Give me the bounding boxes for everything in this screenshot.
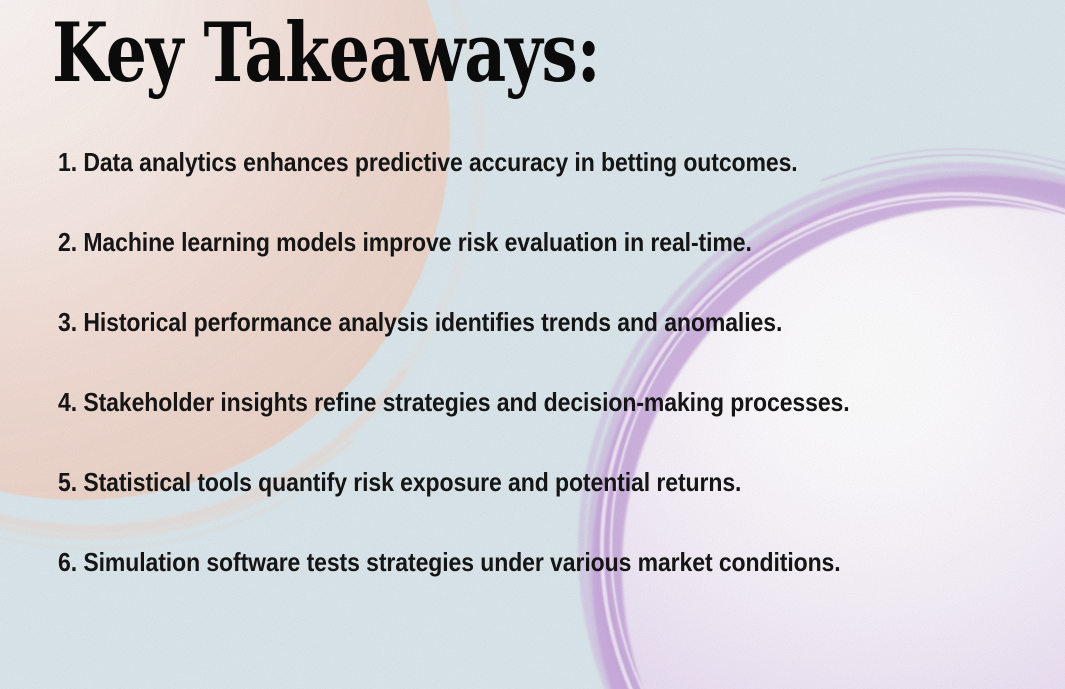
- takeaways-list: 1. Data analytics enhances predictive ac…: [58, 148, 1018, 628]
- takeaway-text-1: 1. Data analytics enhances predictive ac…: [58, 148, 798, 176]
- takeaway-text-2: 2. Machine learning models improve risk …: [58, 228, 752, 256]
- list-item: 6. Simulation software tests strategies …: [58, 548, 1018, 628]
- takeaway-text-3: 3. Historical performance analysis ident…: [58, 308, 782, 336]
- takeaway-text-5: 5. Statistical tools quantify risk expos…: [58, 468, 741, 496]
- list-item: 4. Stakeholder insights refine strategie…: [58, 388, 1018, 468]
- list-item: 3. Historical performance analysis ident…: [58, 308, 1018, 388]
- takeaway-text-6: 6. Simulation software tests strategies …: [58, 548, 841, 576]
- poster-canvas: Key Takeaways: 1. Data analytics enhance…: [0, 0, 1065, 689]
- list-item: 1. Data analytics enhances predictive ac…: [58, 148, 1018, 228]
- list-item: 5. Statistical tools quantify risk expos…: [58, 468, 1018, 548]
- page-title: Key Takeaways:: [52, 13, 599, 94]
- poster-content: Key Takeaways: 1. Data analytics enhance…: [0, 0, 1065, 689]
- list-item: 2. Machine learning models improve risk …: [58, 228, 1018, 308]
- takeaway-text-4: 4. Stakeholder insights refine strategie…: [58, 388, 850, 416]
